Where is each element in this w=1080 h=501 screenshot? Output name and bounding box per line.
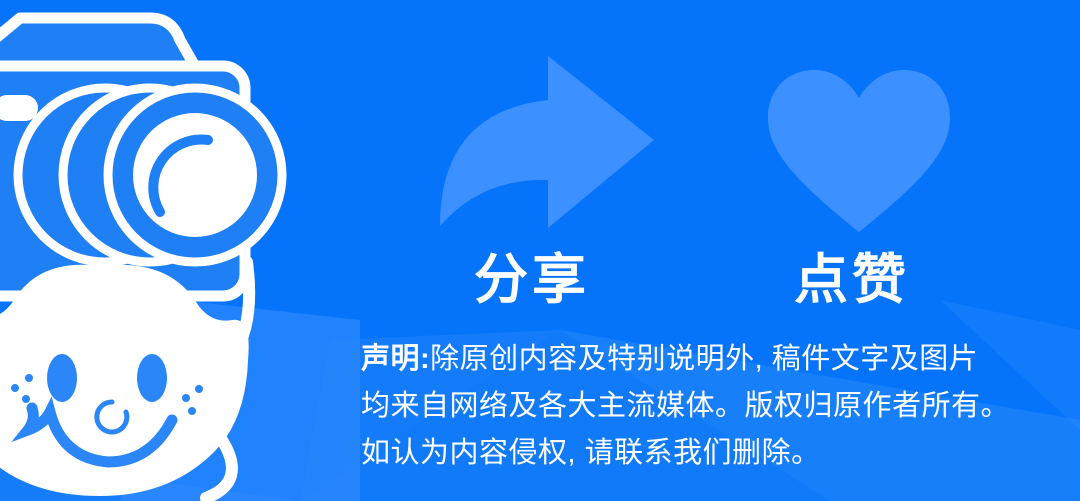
- disclaimer-line-3: 如认为内容侵权, 请联系我们删除。: [361, 430, 1061, 477]
- disclaimer-line-2: 均来自网络及各大主流媒体。版权归原作者所有。: [361, 383, 1061, 430]
- disclaimer-prefix: 声明:: [361, 343, 430, 375]
- camera-button-icon: [0, 95, 38, 121]
- disclaimer-line-1: 声明:除原创内容及特别说明外, 稿件文字及图片: [361, 336, 1061, 383]
- share-label: 分享: [474, 248, 590, 312]
- share-like-banner: 分享 点赞 声明:除原创内容及特别说明外, 稿件文字及图片 均来自网络及各大主流…: [0, 0, 1080, 501]
- disclaimer-text: 声明:除原创内容及特别说明外, 稿件文字及图片 均来自网络及各大主流媒体。版权归…: [361, 336, 1061, 477]
- camera-cat-mascot-icon: [0, 0, 360, 501]
- cat-eye-left-icon: [47, 354, 77, 402]
- like-label: 点赞: [794, 248, 910, 312]
- share-arrow-icon[interactable]: [432, 52, 662, 232]
- cat-eye-right-icon: [137, 354, 167, 402]
- disclaimer-line-1-rest: 除原创内容及特别说明外, 稿件文字及图片: [430, 343, 978, 375]
- heart-icon[interactable]: [762, 66, 956, 236]
